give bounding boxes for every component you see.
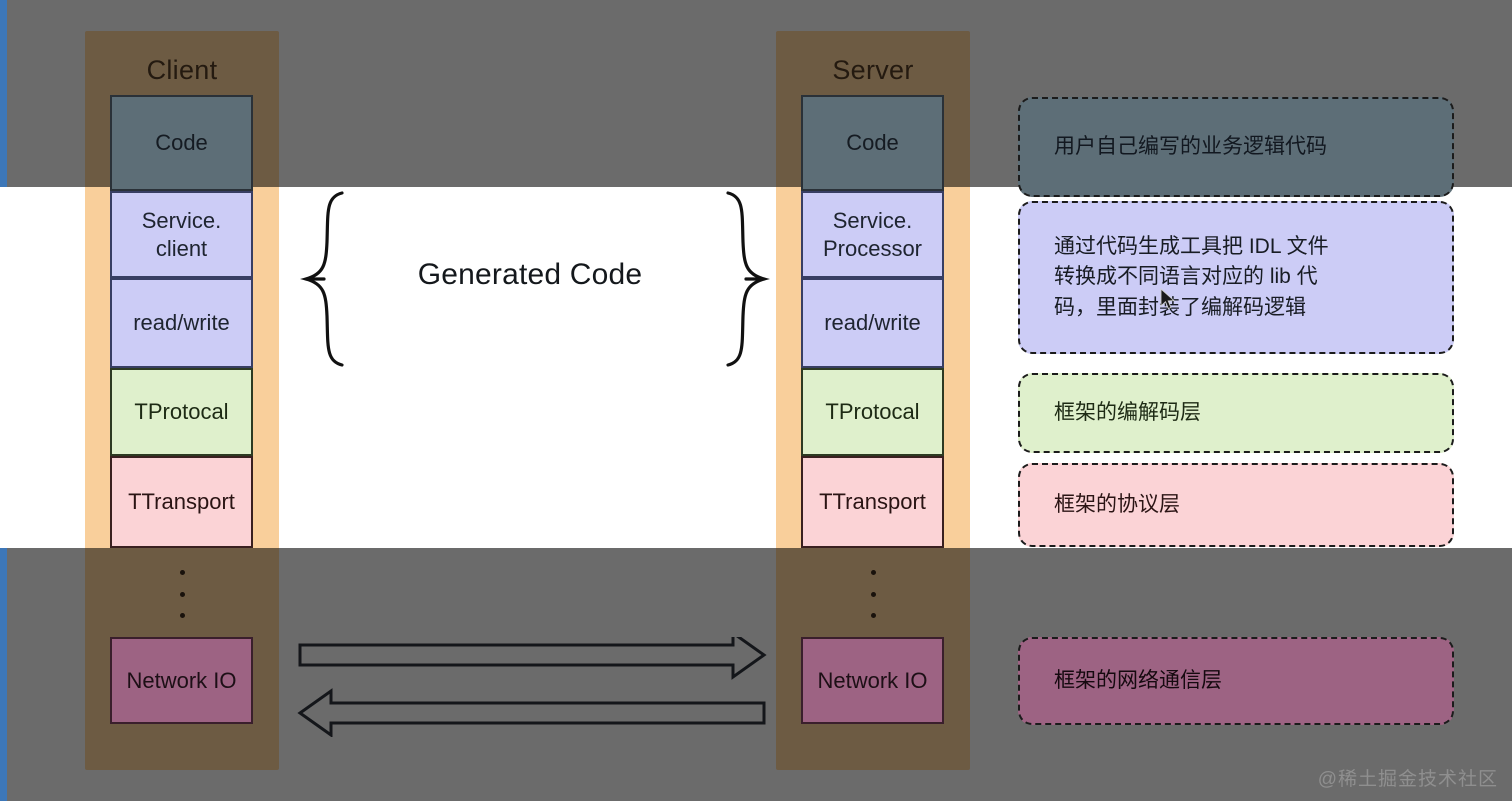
watermark: @稀土掘金技术社区	[1318, 764, 1498, 791]
client-ellipsis-icon	[172, 570, 192, 618]
client-title: Client	[85, 55, 279, 86]
client-layer-protocol[interactable]: TProtocal	[110, 368, 253, 456]
client-layer-network[interactable]: Network IO	[110, 637, 253, 724]
generated-code-label: Generated Code	[360, 258, 700, 292]
left-edge-strip-lower	[0, 548, 7, 801]
server-ellipsis-icon	[863, 570, 883, 618]
server-layer-readwrite[interactable]: read/write	[801, 278, 944, 368]
server-title: Server	[776, 55, 970, 86]
right-brace-icon	[722, 190, 770, 368]
note-transport: 框架的协议层	[1018, 463, 1454, 547]
mouse-cursor-icon	[1160, 288, 1176, 312]
client-layer-readwrite[interactable]: read/write	[110, 278, 253, 368]
client-layer-code[interactable]: Code	[110, 95, 253, 191]
note-code: 用户自己编写的业务逻辑代码	[1018, 97, 1454, 197]
server-layer-service[interactable]: Service. Processor	[801, 191, 944, 278]
bidirectional-arrows-icon	[296, 637, 768, 737]
server-layer-network[interactable]: Network IO	[801, 637, 944, 724]
left-brace-icon	[300, 190, 348, 368]
note-protocol: 框架的编解码层	[1018, 373, 1454, 453]
diagram-canvas: Client Server Code Service. client read/…	[0, 0, 1512, 801]
server-layer-transport[interactable]: TTransport	[801, 456, 944, 548]
client-layer-service[interactable]: Service. client	[110, 191, 253, 278]
note-network: 框架的网络通信层	[1018, 637, 1454, 725]
note-generated: 通过代码生成工具把 IDL 文件 转换成不同语言对应的 lib 代 码，里面封装…	[1018, 201, 1454, 354]
server-layer-protocol[interactable]: TProtocal	[801, 368, 944, 456]
client-layer-transport[interactable]: TTransport	[110, 456, 253, 548]
left-edge-strip-upper	[0, 0, 7, 187]
server-layer-code[interactable]: Code	[801, 95, 944, 191]
